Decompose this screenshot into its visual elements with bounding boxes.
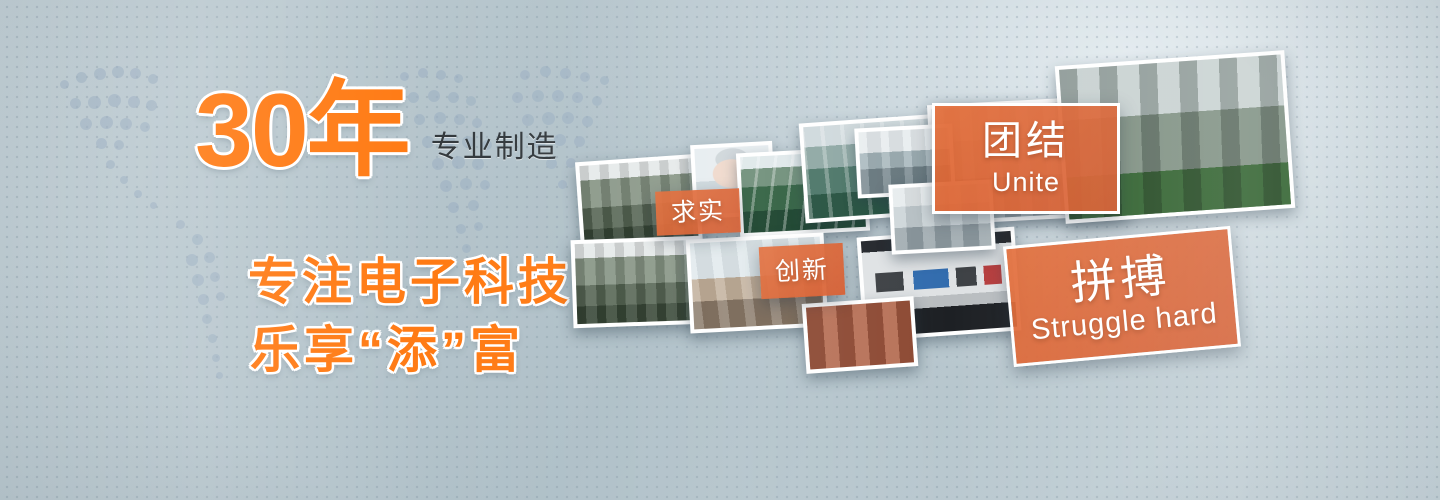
photo-cabinets — [802, 296, 919, 374]
value-panel-qiushi-cn: 求实 — [670, 198, 725, 225]
value-panel-chuangxin: 创新 — [759, 243, 846, 299]
value-panel-unite-en: Unite — [992, 169, 1060, 196]
photo-reflow-oven-image — [575, 240, 700, 324]
value-panel-struggle-en: Struggle hard — [1030, 299, 1219, 345]
photo-collage: 团结 Unite 拼搏 Struggle hard 求实 创新 — [560, 0, 1440, 500]
value-panel-struggle-cn: 拼搏 — [1069, 252, 1173, 307]
value-panel-chuangxin-cn: 创新 — [774, 257, 829, 285]
years-number: 30年 — [195, 84, 409, 180]
slogan-line-1: 专注电子科技 — [248, 242, 572, 314]
value-panel-qiushi: 求实 — [655, 188, 741, 235]
photo-reflow-oven — [571, 236, 704, 328]
headline-block: 30年 专业制造 专注电子科技 乐享“添”富 — [0, 0, 620, 500]
slogan-line-2: 乐享“添”富 — [250, 310, 524, 382]
years-suffix: 专业制造 — [431, 122, 559, 180]
value-panel-unite: 团结 Unite — [932, 103, 1120, 214]
photo-cabinets-image — [806, 300, 914, 369]
headline-row: 30年 专业制造 — [195, 84, 559, 180]
value-panel-struggle: 拼搏 Struggle hard — [1003, 226, 1241, 367]
value-panel-unite-cn: 团结 — [982, 121, 1070, 161]
promo-banner: 30年 专业制造 专注电子科技 乐享“添”富 — [0, 0, 1440, 500]
